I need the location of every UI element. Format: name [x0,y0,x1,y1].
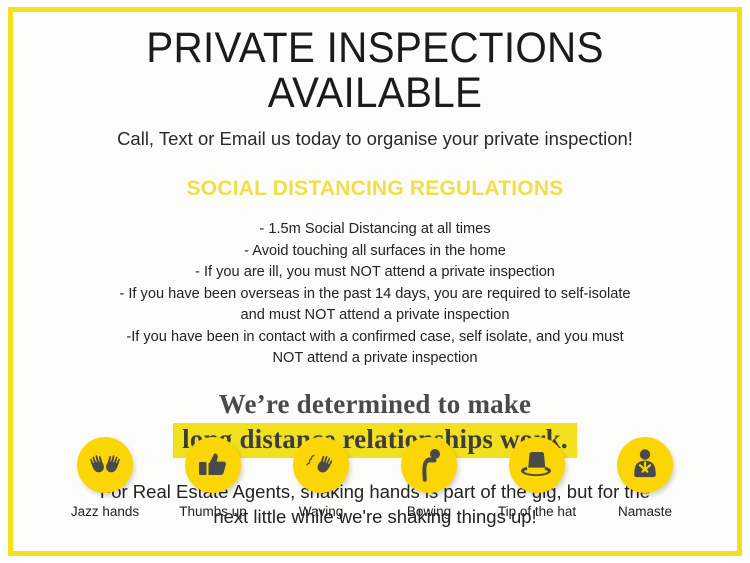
poster-frame: PRIVATE INSPECTIONS AVAILABLE Call, Text… [8,7,742,556]
gesture-label: Waving [299,504,344,519]
rule-line: - If you are ill, you must NOT attend a … [31,262,719,283]
tagline-line-1: We’re determined to make [31,389,719,420]
gesture-item-tip-of-the-hat: Tip of the hat [491,437,583,519]
rule-line: and must NOT attend a private inspection [31,305,719,326]
gesture-badge [185,437,241,493]
thumbs-up-icon [197,450,229,480]
jazz-hands-icon [87,450,123,480]
gesture-item-waving: Waving [275,437,367,519]
gesture-label: Jazz hands [71,504,139,519]
gesture-item-namaste: Namaste [599,437,691,519]
section-heading-social-distancing: SOCIAL DISTANCING REGULATIONS [31,150,719,201]
gesture-badge [293,437,349,493]
rule-line: NOT attend a private inspection [31,348,719,369]
subtitle-text: Call, Text or Email us today to organise… [31,116,719,150]
top-hat-icon [518,450,556,480]
rule-line: -If you have been in contact with a conf… [31,327,719,348]
gesture-label: Namaste [618,504,672,519]
gesture-label: Bowing [407,504,451,519]
gesture-item-bowing: Bowing [383,437,475,519]
page-title: PRIVATE INSPECTIONS AVAILABLE [52,12,699,116]
gesture-badge [617,437,673,493]
gesture-label: Tip of the hat [498,504,576,519]
gesture-badge [509,437,565,493]
rule-line: - Avoid touching all surfaces in the hom… [31,241,719,262]
gesture-label: Thumbs up [179,504,247,519]
gesture-item-thumbs-up: Thumbs up [167,437,259,519]
gesture-badge [77,437,133,493]
rule-line: - If you have been overseas in the past … [31,284,719,305]
rules-list: - 1.5m Social Distancing at all times - … [31,201,719,369]
rule-line: - 1.5m Social Distancing at all times [31,219,719,240]
bowing-person-icon [415,448,443,482]
gesture-item-jazz-hands: Jazz hands [59,437,151,519]
gesture-row: Jazz hands Thumbs up [31,437,719,519]
gesture-badge [401,437,457,493]
namaste-person-icon [629,448,661,482]
waving-hand-icon [304,449,338,481]
